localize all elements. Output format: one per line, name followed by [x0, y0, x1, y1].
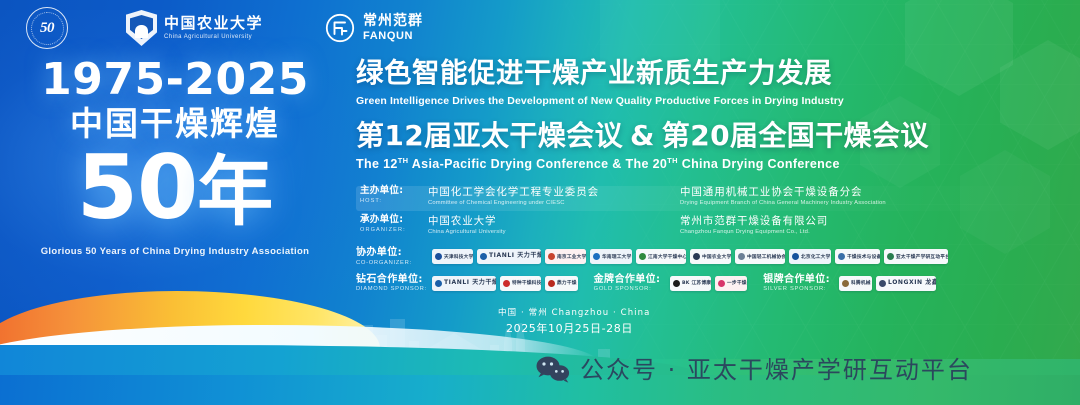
shield-icon [126, 10, 157, 46]
sponsor-mark-icon [548, 280, 555, 287]
sponsor-logo-chip[interactable]: 江南大学干燥中心 [636, 249, 686, 264]
silver-label-cn: 银牌合作单位: [763, 274, 839, 286]
headline-en: Green Intelligence Drives the Developmen… [356, 95, 1056, 109]
cau-logo: 中国农业大学 China Agricultural University [126, 10, 263, 46]
conference-title-cn: 第12届亚太干燥会议&第20届全国干燥会议 [356, 120, 1056, 152]
organizer-entry-2-cn: 常州市范群干燥设备有限公司 [680, 215, 1056, 227]
gold-sponsor-label: 金牌合作单位: GOLD SPONSOR: [594, 274, 670, 293]
conference-banner: 50 中国农业大学 China Agricultural University … [0, 0, 1080, 405]
sponsor-logo-label: 中国轻工机械协会 [747, 255, 785, 260]
seal-icon: 50 [26, 7, 68, 49]
organizer-label-en: ORGANIZER: [360, 227, 428, 234]
sponsor-logo-label: 亚太干燥产学研互动平台 [896, 255, 947, 260]
sponsor-logo-chip[interactable]: 南京工业大学 [545, 249, 586, 264]
sponsor-mark-icon [548, 253, 555, 260]
wechat-icon [536, 356, 570, 383]
organizer-entry-2: 常州市范群干燥设备有限公司 Changzhou Fanqun Drying Eq… [680, 215, 1056, 236]
organizer-table: 主办单位: HOST: 中国化工学会化学工程专业委员会 Committee of… [356, 186, 1056, 240]
sponsor-logo-chip[interactable]: 中国轻工机械协会 [735, 249, 785, 264]
sponsor-logo-label: 天津科技大学 [444, 255, 473, 260]
co-organizer-label-en: CO-ORGANIZER: [356, 260, 432, 267]
anniversary-block: 1975-2025 中国干燥辉煌 50年 Glorious 50 Years o… [0, 58, 350, 308]
cau-name-cn: 中国农业大学 [164, 15, 263, 32]
sponsor-mark-icon [639, 253, 646, 260]
host-label-en: HOST: [360, 198, 428, 205]
venue-block: 中国 · 常州 Changzhou · China 2025年10月25日-28… [498, 308, 650, 335]
wechat-promo[interactable]: 公众号 · 亚太干燥产学研互动平台 [536, 356, 973, 383]
anniversary-subtitle-en: Glorious 50 Years of China Drying Indust… [41, 246, 310, 257]
conf-en-2-sup: TH [667, 156, 678, 165]
sponsor-logo-label: TIANLI 天力干燥 [444, 280, 496, 286]
sponsor-mark-icon [480, 253, 487, 260]
sponsor-logo-label: 南京工业大学 [557, 255, 586, 260]
organizer-entry-2-en: Changzhou Fanqun Drying Equipment Co., L… [680, 229, 1056, 236]
venue-date: 2025年10月25日-28日 [498, 322, 650, 335]
organizer-label: 承办单位: ORGANIZER: [356, 215, 428, 234]
organizer-entry-1: 中国农业大学 China Agricultural University [428, 215, 680, 236]
silver-sponsor-label: 银牌合作单位: SILVER SPONSOR: [763, 274, 839, 293]
main-content: 绿色智能促进干燥产业新质生产力发展 Green Intelligence Dri… [356, 58, 1056, 293]
conference-title-part2: 第20届全国干燥会议 [662, 119, 929, 152]
big-number-value: 50 [77, 136, 197, 239]
sponsor-mark-icon [718, 280, 725, 287]
sponsor-logo-label: 北京化工大学 [801, 255, 830, 260]
diamond-label-cn: 钻石合作单位: [356, 274, 432, 286]
conf-en-1-rest: Asia-Pacific Drying Conference [408, 158, 612, 172]
sponsor-mark-icon [887, 253, 894, 260]
host-entry-2-en: Drying Equipment Branch of China General… [680, 200, 1056, 207]
logo-bar: 50 中国农业大学 China Agricultural University … [0, 0, 1080, 56]
sponsor-logo-chip[interactable]: 天津科技大学 [432, 249, 473, 264]
conference-title-part1: 第12届亚太干燥会议 [356, 119, 623, 152]
sponsor-mark-icon [693, 253, 700, 260]
sponsor-logo-chip[interactable]: BK 江苏博康 [670, 276, 711, 291]
sponsor-logo-chip[interactable]: 科腾机械 [839, 276, 872, 291]
venue-location: 中国 · 常州 Changzhou · China [498, 308, 650, 318]
sponsor-mark-icon [435, 253, 442, 260]
sponsor-logo-chip[interactable]: 北京化工大学 [789, 249, 830, 264]
conf-en-2-rest: China Drying Conference [678, 158, 840, 172]
conf-en-amp: & [612, 158, 625, 172]
sponsor-logo-chip[interactable]: LONGXIN 龙鑫 [876, 276, 936, 291]
host-label-cn: 主办单位: [360, 186, 428, 197]
big-number-unit: 年 [197, 147, 273, 236]
conference-title-en: The 12TH Asia-Pacific Drying Conference … [356, 156, 1056, 173]
sponsor-logo-chip[interactable]: 干燥技术与设备 [835, 249, 881, 264]
co-organizer-label: 协办单位: CO-ORGANIZER: [356, 247, 432, 266]
sponsor-mark-icon [673, 280, 680, 287]
conf-en-2: The 20 [625, 158, 667, 172]
gold-label-en: GOLD SPONSOR: [594, 286, 670, 293]
sponsor-logo-chip[interactable]: TIANLI 天力干燥 [477, 249, 541, 264]
headline-cn: 绿色智能促进干燥产业新质生产力发展 [356, 58, 1056, 90]
organizer-entry-1-en: China Agricultural University [428, 229, 680, 236]
sponsor-logo-label: 一步干燥 [727, 281, 747, 286]
gold-label-cn: 金牌合作单位: [594, 274, 670, 286]
sponsor-mark-icon [838, 253, 845, 260]
diamond-sponsor-label: 钻石合作单位: DIAMOND SPONSOR: [356, 274, 432, 293]
wechat-text: 公众号 · 亚太干燥产学研互动平台 [580, 358, 973, 382]
co-organizer-label-cn: 协办单位: [356, 247, 432, 259]
host-entry-2-cn: 中国通用机械工业协会干燥设备分会 [680, 186, 1056, 198]
sponsor-logo-chip[interactable]: 特种干燥科技 [500, 276, 541, 291]
organizer-row-organizer: 承办单位: ORGANIZER: 中国农业大学 China Agricultur… [356, 215, 1056, 240]
host-entry-1-cn: 中国化工学会化学工程专业委员会 [428, 186, 680, 198]
anniversary-seal-logo: 50 [26, 7, 68, 49]
organizer-entry-1-cn: 中国农业大学 [428, 215, 680, 227]
sponsor-logo-label: 干燥技术与设备 [847, 255, 881, 260]
sponsor-logo-label: 江南大学干燥中心 [648, 255, 686, 260]
sponsor-logo-label: 特种干燥科技 [512, 281, 541, 286]
co-organizer-row: 协办单位: CO-ORGANIZER: 天津科技大学TIANLI 天力干燥南京工… [356, 247, 1056, 266]
conference-ampersand: & [630, 119, 655, 152]
fanqun-name-en: FANQUN [363, 30, 423, 42]
conf-en-1-sup: TH [398, 156, 409, 165]
host-entry-2: 中国通用机械工业协会干燥设备分会 Drying Equipment Branch… [680, 186, 1056, 207]
co-organizer-logo-list: 天津科技大学TIANLI 天力干燥南京工业大学华南理工大学江南大学干燥中心中国农… [432, 249, 948, 264]
sponsor-logo-label: 华南理工大学 [602, 255, 631, 260]
organizer-label-cn: 承办单位: [360, 215, 428, 226]
silver-label-en: SILVER SPONSOR: [763, 286, 839, 293]
sponsor-mark-icon [738, 253, 745, 260]
fanqun-mark-icon [325, 13, 355, 43]
fanqun-name-cn: 常州范群 [363, 14, 423, 29]
diamond-label-en: DIAMOND SPONSOR: [356, 286, 432, 293]
sponsor-logo-chip[interactable]: 鼎力干燥 [545, 276, 578, 291]
cau-name-en: China Agricultural University [164, 34, 263, 41]
sponsor-logo-label: TIANLI 天力干燥 [489, 254, 541, 260]
sponsor-logo-chip[interactable]: 华南理工大学 [590, 249, 631, 264]
sponsor-logo-chip[interactable]: 一步干燥 [715, 276, 748, 291]
host-label: 主办单位: HOST: [356, 186, 428, 205]
sponsor-logo-chip[interactable]: TIANLI 天力干燥 [432, 276, 496, 291]
sponsor-logo-chip[interactable]: 中国农业大学 [690, 249, 731, 264]
sponsor-mark-icon [593, 253, 600, 260]
diamond-sponsor-logo-list: TIANLI 天力干燥特种干燥科技鼎力干燥 [432, 276, 578, 291]
anniversary-years: 1975-2025 [41, 58, 309, 102]
sponsor-mark-icon [842, 280, 849, 287]
sponsor-row: 钻石合作单位: DIAMOND SPONSOR: TIANLI 天力干燥特种干燥… [356, 274, 1056, 293]
organizer-row-host: 主办单位: HOST: 中国化工学会化学工程专业委员会 Committee of… [356, 186, 1056, 211]
sponsor-mark-icon [435, 280, 442, 287]
gold-sponsor-logo-list: BK 江苏博康一步干燥 [670, 276, 748, 291]
seal-number: 50 [40, 21, 54, 36]
sponsor-mark-icon [879, 280, 886, 287]
silver-sponsor-logo-list: 科腾机械LONGXIN 龙鑫 [839, 276, 936, 291]
fanqun-logo: 常州范群 FANQUN [325, 13, 423, 43]
host-entry-1-en: Committee of Chemical Engineering under … [428, 200, 680, 207]
sponsor-logo-label: 中国农业大学 [702, 255, 731, 260]
host-entry-1: 中国化工学会化学工程专业委员会 Committee of Chemical En… [428, 186, 680, 207]
anniversary-big-number: 50年 [77, 144, 273, 232]
conf-en-1: The 12 [356, 158, 398, 172]
sponsor-logo-label: 科腾机械 [851, 281, 871, 286]
sponsor-mark-icon [792, 253, 799, 260]
sponsor-logo-label: BK 江苏博康 [682, 281, 711, 286]
sponsor-mark-icon [503, 280, 510, 287]
sponsor-logo-chip[interactable]: 亚太干燥产学研互动平台 [884, 249, 947, 264]
sponsor-logo-label: LONGXIN 龙鑫 [888, 280, 936, 286]
sponsor-logo-label: 鼎力干燥 [557, 281, 577, 286]
